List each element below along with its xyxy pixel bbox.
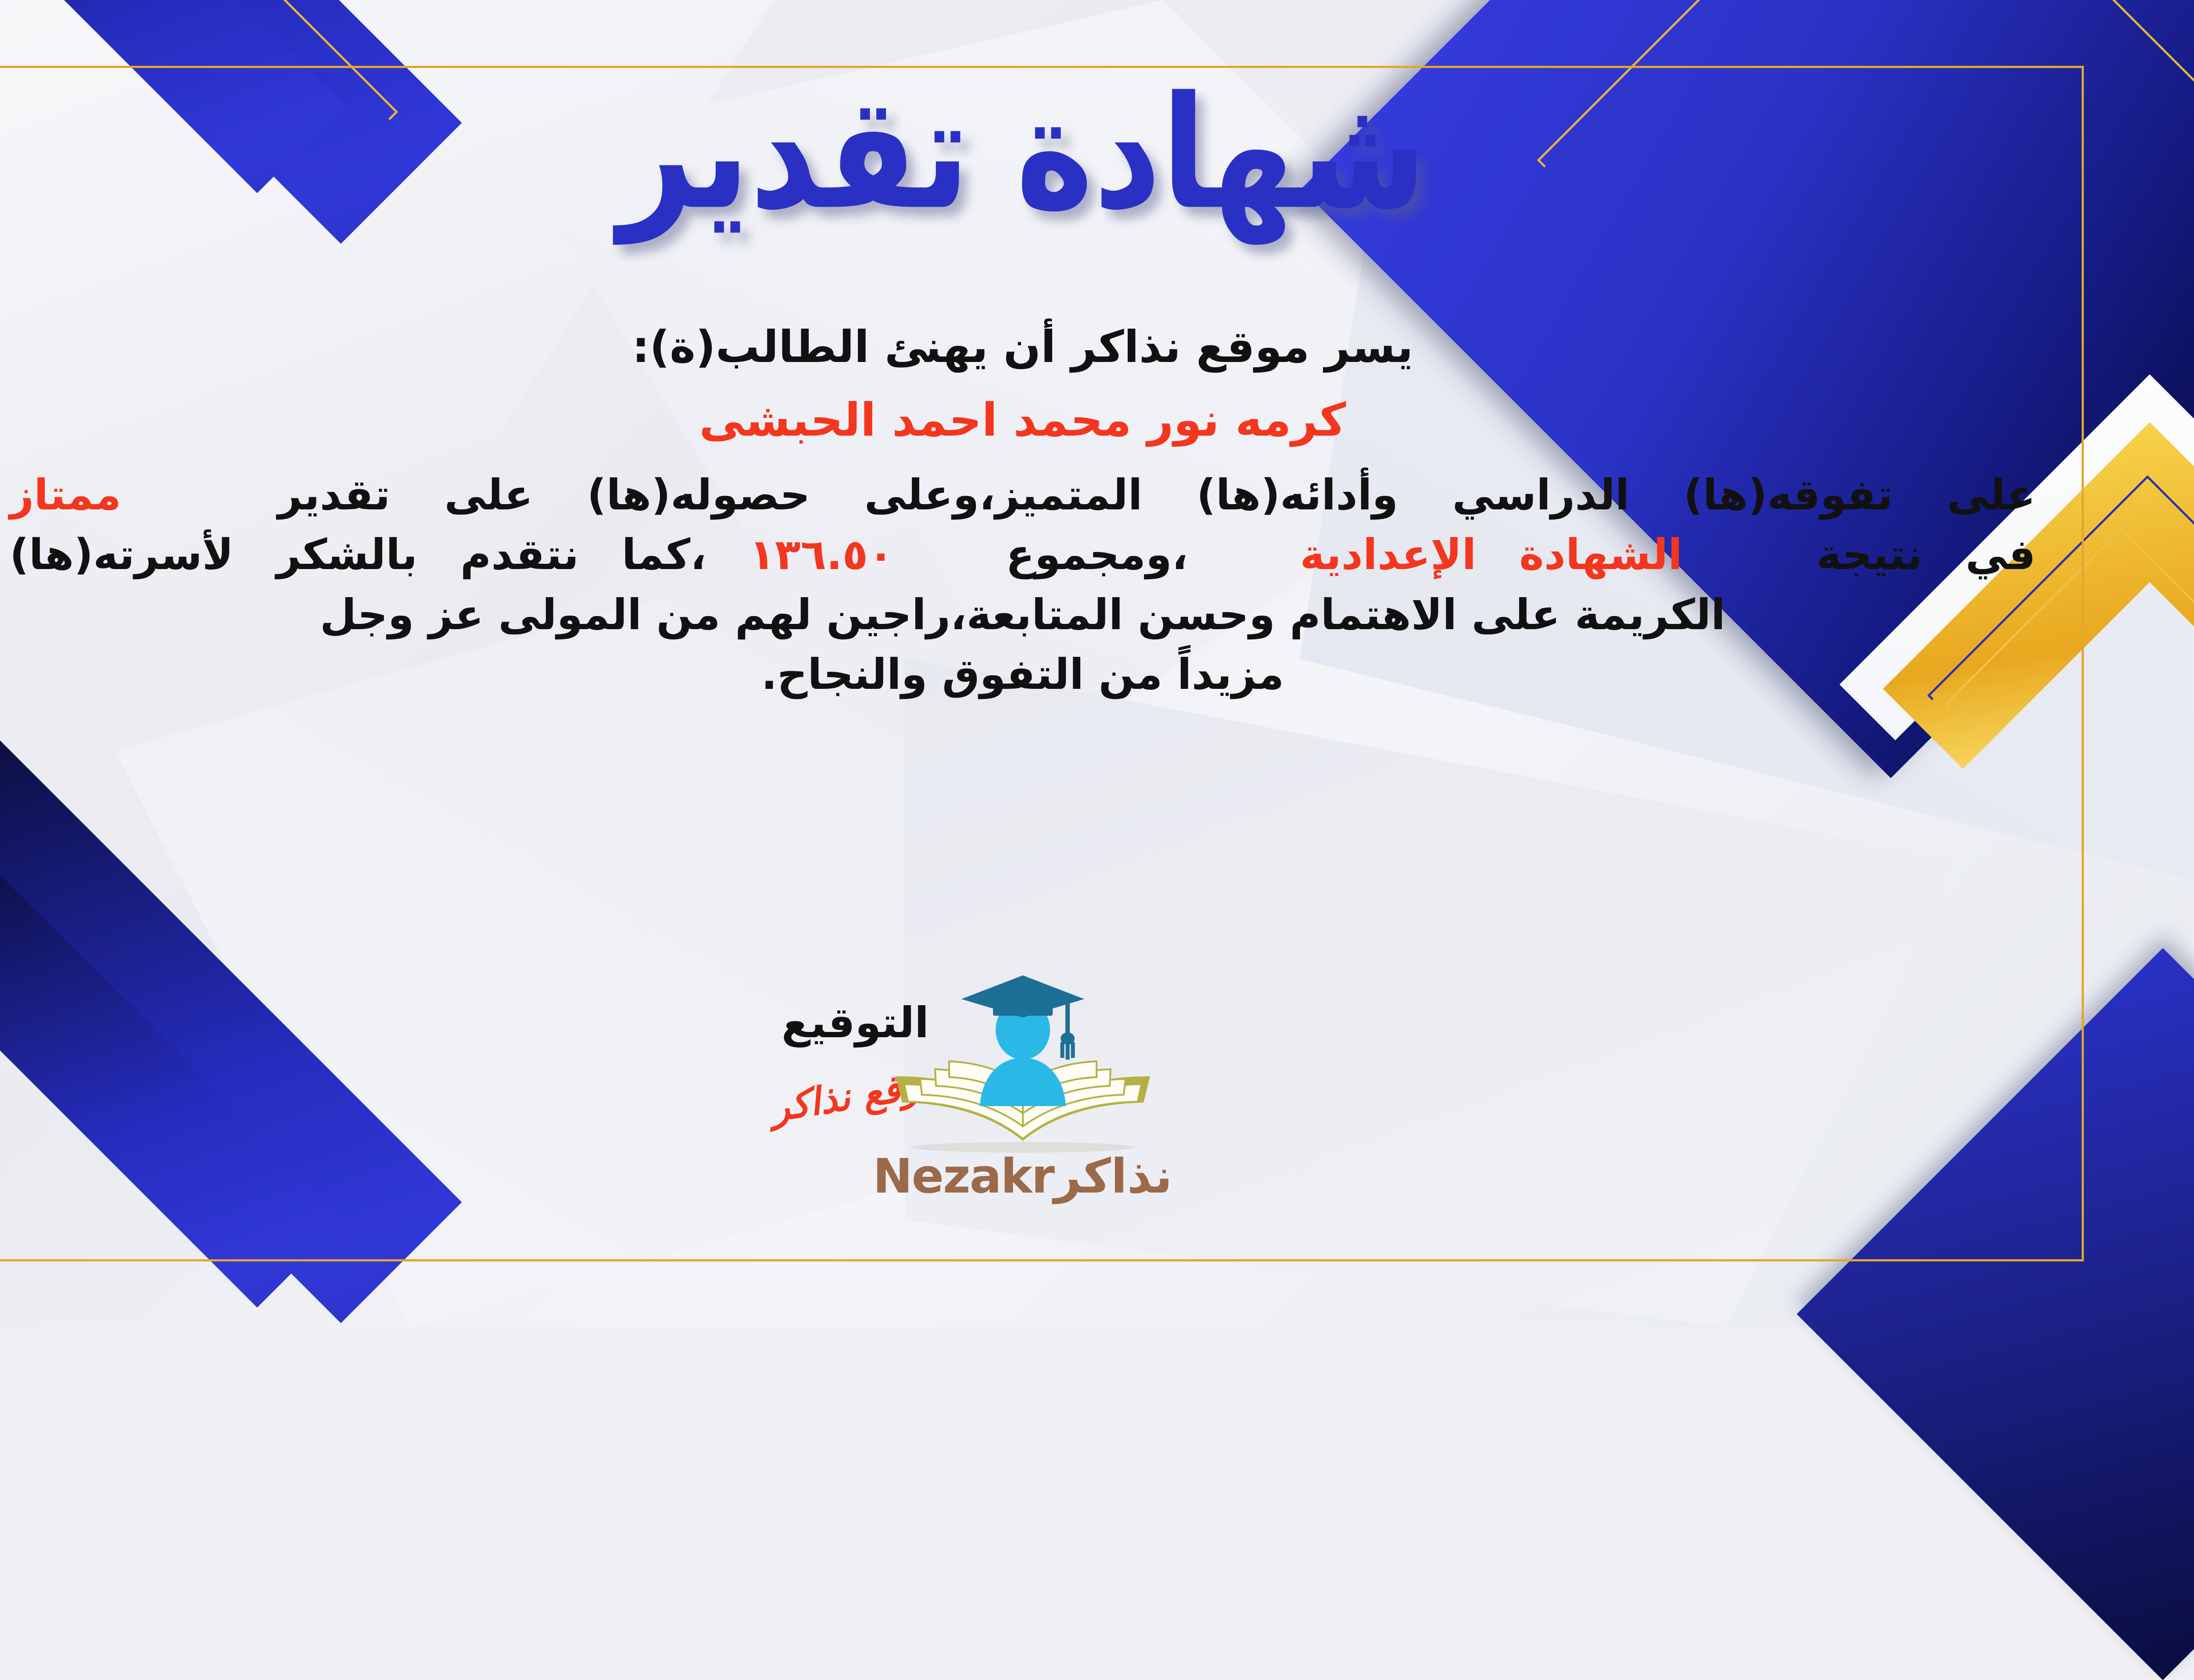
achievement-text: على تفوقه(ها) الدراسي وأدائه(ها) المتميز… bbox=[278, 470, 2036, 519]
certificate-footer: التوقيع موقع نذاكر bbox=[0, 972, 2194, 1261]
closing-line: مزيداً من التفوق والنجاح. bbox=[10, 645, 2036, 704]
student-name: كرمه نور محمد احمد الحبشى bbox=[10, 393, 2036, 447]
intro-line: يسر موقع نذاكر أن يهنئ الطالب(ة): bbox=[10, 316, 2036, 378]
achievement-line: على تفوقه(ها) الدراسي وأدائه(ها) المتميز… bbox=[10, 465, 2036, 525]
result-prefix: في نتيجة bbox=[1817, 530, 2036, 579]
nezakr-logo: نذاكرNezakr bbox=[857, 972, 1190, 1204]
certificate-name: الشهادة الإعدادية bbox=[1301, 530, 1683, 579]
total-label: ،ومجموع bbox=[1006, 530, 1188, 579]
gratitude-line: الكريمة على الاهتمام وحسن المتابعة،راجين… bbox=[10, 585, 2036, 645]
certificate-body: يسر موقع نذاكر أن يهنئ الطالب(ة): كرمه ن… bbox=[10, 316, 2036, 704]
grade-value: ممتاز bbox=[10, 470, 122, 519]
graduate-book-icon bbox=[878, 972, 1168, 1161]
logo-graphic bbox=[878, 972, 1168, 1161]
thanks-text: ،كما نتقدم بالشكر لأسرته(ها) bbox=[10, 530, 707, 579]
result-line: في نتيجة الشهادة الإعدادية ،ومجموع ١٣٦.٥… bbox=[10, 525, 2036, 584]
certificate-title: شهادة تقدير bbox=[0, 76, 2062, 231]
total-score: ١٣٦.٥٠ bbox=[749, 530, 894, 579]
